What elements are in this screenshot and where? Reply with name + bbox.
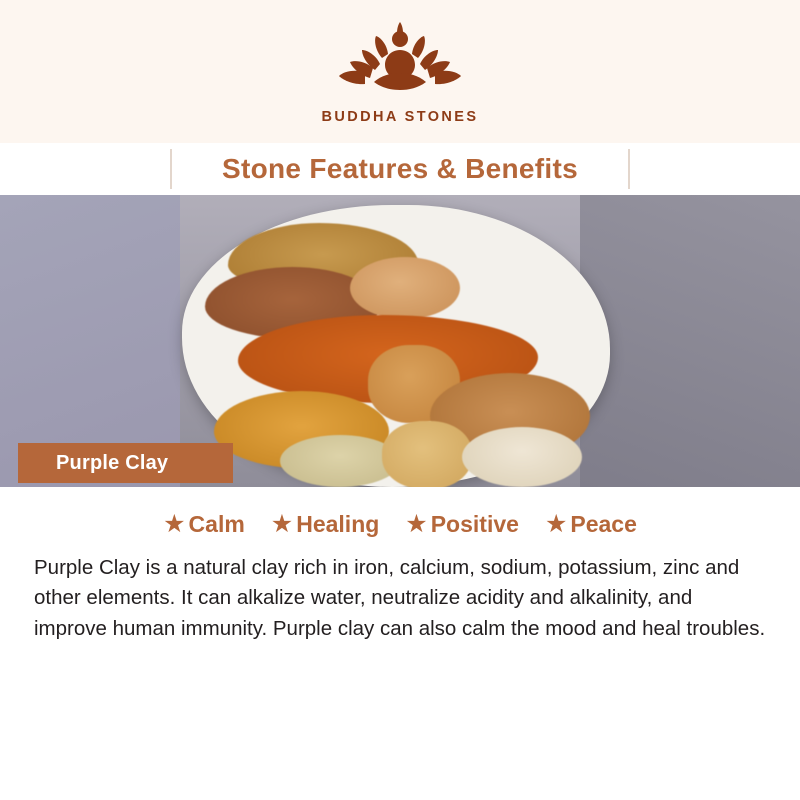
benefit-label: Positive	[431, 511, 519, 538]
benefit-label: Healing	[296, 511, 379, 538]
brand-name: BUDDHA STONES	[322, 109, 479, 125]
benefits-row: ★ Calm ★ Healing ★ Positive ★ Peace	[0, 500, 800, 548]
title-bar: Stone Features & Benefits	[0, 143, 800, 195]
benefit-label: Calm	[189, 511, 245, 538]
clay-powder-pile	[462, 427, 582, 487]
clay-powder-pile	[350, 257, 460, 319]
description-text: Purple Clay is a natural clay rich in ir…	[34, 553, 768, 644]
lotus-meditation-figure-icon	[325, 22, 475, 105]
product-label-ribbon: Purple Clay	[18, 443, 233, 483]
benefit-item-calm: ★ Calm	[163, 511, 245, 538]
benefit-label: Peace	[570, 511, 637, 538]
product-name: Purple Clay	[18, 452, 194, 475]
benefit-item-positive: ★ Positive	[405, 511, 519, 538]
photo-background-right	[580, 195, 800, 487]
star-icon: ★	[405, 512, 427, 537]
brand-header: BUDDHA STONES	[0, 0, 800, 143]
infographic-page: BUDDHA STONES Stone Features & Benefits …	[0, 0, 800, 800]
star-icon: ★	[271, 512, 293, 537]
clay-powder-pile	[382, 421, 472, 487]
star-icon: ★	[545, 512, 567, 537]
benefit-item-peace: ★ Peace	[545, 511, 637, 538]
bottom-spacer	[0, 738, 800, 800]
benefit-item-healing: ★ Healing	[271, 511, 380, 538]
star-icon: ★	[163, 512, 185, 537]
page-title: Stone Features & Benefits	[222, 153, 578, 185]
